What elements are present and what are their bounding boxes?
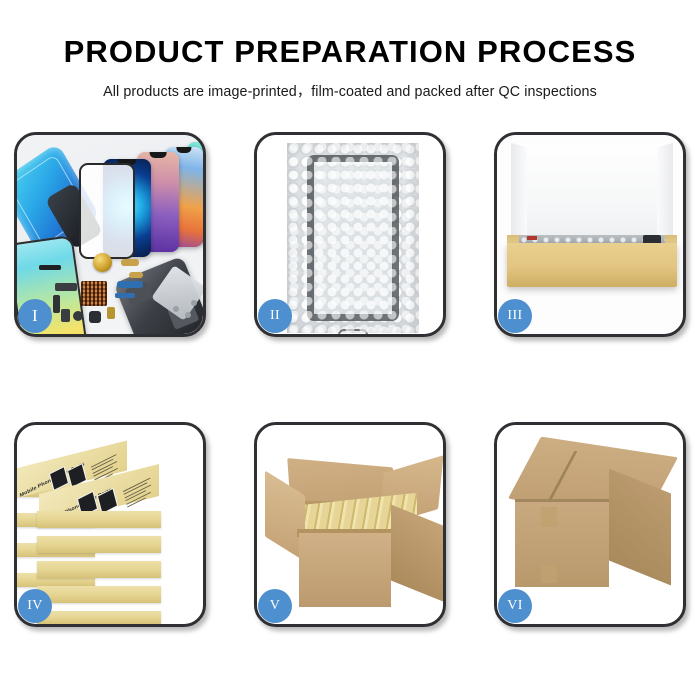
box-layer: [37, 586, 161, 603]
process-steps-grid: I II III: [14, 132, 686, 638]
step-badge-3: III: [498, 299, 532, 333]
carton-front-icon: [515, 499, 609, 587]
product-preparation-infographic: PRODUCT PREPARATION PROCESS All products…: [0, 0, 700, 700]
box-layer: [37, 511, 161, 528]
yellow-tray-icon: [507, 243, 677, 287]
page-subtitle: All products are image-printed，film-coat…: [0, 80, 700, 101]
carton-tape-icon: [541, 507, 557, 527]
speaker-coil-icon: [93, 253, 112, 272]
part-icon: [39, 265, 61, 270]
step-badge-1: I: [18, 299, 52, 333]
step-panel-6[interactable]: VI: [494, 422, 686, 627]
step-panel-5[interactable]: V: [254, 422, 446, 627]
part-icon: [121, 259, 139, 266]
wrapped-screen-icon: [307, 155, 399, 321]
step-badge-6: VI: [498, 589, 532, 623]
box-layer: [37, 611, 161, 624]
header: PRODUCT PREPARATION PROCESS All products…: [0, 0, 700, 101]
part-icon: [129, 272, 143, 278]
step-badge-4: IV: [18, 589, 52, 623]
carton-side-icon: [391, 504, 443, 601]
screw-icon: [191, 300, 197, 306]
step-panel-1[interactable]: I: [14, 132, 206, 337]
flex-cable-icon: [115, 293, 135, 298]
step-panel-2[interactable]: II: [254, 132, 446, 337]
carton-front-icon: [299, 533, 391, 607]
box-layer: [37, 536, 161, 553]
carton-tape-icon: [541, 565, 557, 583]
screw-icon: [185, 312, 191, 318]
bubble-wrap-icon: [287, 143, 419, 333]
logic-chip-icon: [81, 281, 107, 306]
box-stack-icon: Mobile Phone Spare Parts Mobile Phone Sp…: [17, 441, 203, 617]
connector-icon: [527, 236, 537, 240]
step-panel-3[interactable]: III: [494, 132, 686, 337]
page-title: PRODUCT PREPARATION PROCESS: [0, 36, 700, 69]
step-badge-2: II: [258, 299, 292, 333]
flex-cable-icon: [117, 281, 143, 288]
screw-icon: [173, 306, 179, 312]
part-icon: [73, 311, 83, 321]
box-layer: [37, 561, 161, 578]
part-icon: [61, 309, 70, 322]
carton-edge-icon: [515, 499, 609, 502]
part-icon: [53, 295, 60, 313]
screen-glass-icon: [79, 163, 135, 259]
part-icon: [89, 311, 101, 323]
step-badge-5: V: [258, 589, 292, 623]
step-panel-4[interactable]: Mobile Phone Spare Parts Mobile Phone Sp…: [14, 422, 206, 627]
part-icon: [55, 283, 77, 291]
part-icon: [107, 307, 115, 319]
